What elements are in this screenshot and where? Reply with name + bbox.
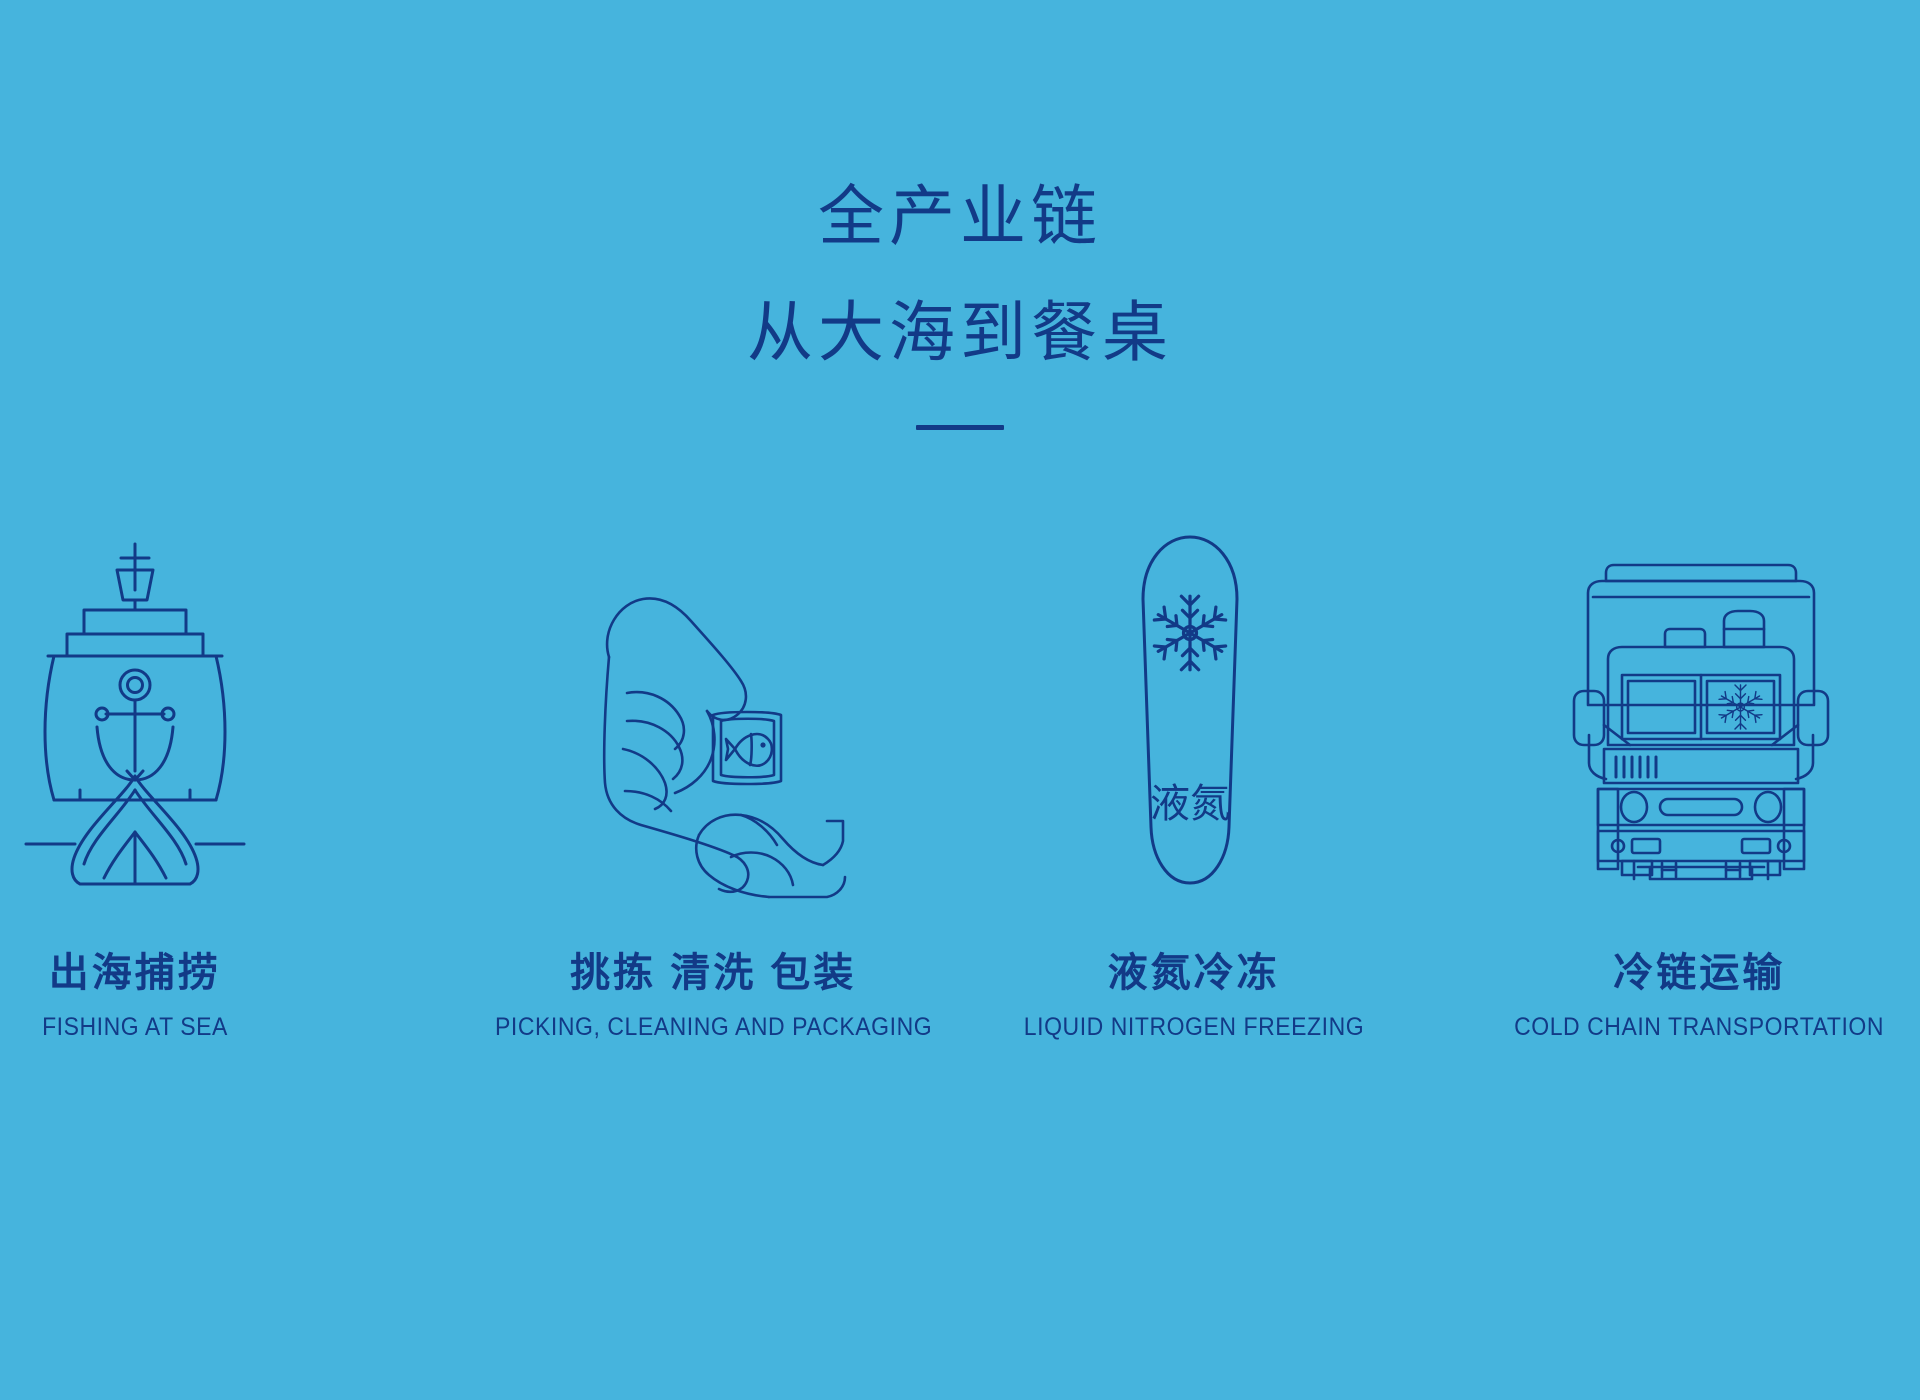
step-label-en: PICKING, CLEANING AND PACKAGING [495, 1012, 932, 1042]
tank-text: 液氮 [1150, 781, 1230, 827]
fishing-boat-icon [20, 508, 250, 908]
step-labels: 挑拣 清洗 包装 PICKING, CLEANING AND PACKAGING [476, 948, 951, 1042]
step-picking-cleaning-packaging: 挑拣 清洗 包装 PICKING, CLEANING AND PACKAGING [488, 520, 963, 1042]
refrigerated-truck-icon [1566, 514, 1836, 914]
page-title-line-1: 全产业链 [0, 170, 1920, 264]
step-label-cn: 挑拣 清洗 包装 [476, 948, 951, 998]
snowflake-icon [1154, 596, 1225, 669]
step-labels: 液氮冷冻 LIQUID NITROGEN FREEZING [1009, 948, 1379, 1042]
header: 全产业链 从大海到餐桌 [0, 170, 1920, 430]
hands-with-packaged-fish-icon [565, 534, 865, 934]
step-fishing-at-sea: 出海捕捞 FISHING AT SEA [18, 520, 488, 1042]
step-labels: 出海捕捞 FISHING AT SEA [34, 948, 236, 1042]
process-steps-row: 出海捕捞 FISHING AT SEA [0, 520, 1920, 1160]
step-label-en: FISHING AT SEA [42, 1012, 228, 1042]
step-label-cn: 出海捕捞 [34, 948, 236, 998]
step-label-cn: 冷链运输 [1498, 948, 1900, 998]
step-label-en: LIQUID NITROGEN FREEZING [1023, 1012, 1363, 1042]
title-divider [916, 425, 1004, 430]
page-title-line-2: 从大海到餐桌 [0, 286, 1920, 380]
snowflake-icon [1719, 685, 1762, 729]
step-labels: 冷链运输 COLD CHAIN TRANSPORTATION [1498, 948, 1900, 1042]
liquid-nitrogen-tank-icon: 液氮 [1105, 512, 1275, 912]
step-liquid-nitrogen-freezing: 液氮 液氮冷冻 LIQUID NITROGEN FREEZING [963, 520, 1433, 1042]
step-cold-chain-transportation: 冷链运输 COLD CHAIN TRANSPORTATION [1432, 520, 1902, 1042]
infographic-canvas: 全产业链 从大海到餐桌 [0, 0, 1920, 1400]
step-label-en: COLD CHAIN TRANSPORTATION [1514, 1012, 1884, 1042]
step-label-cn: 液氮冷冻 [1009, 948, 1379, 998]
title-divider-wrap [0, 425, 1920, 430]
